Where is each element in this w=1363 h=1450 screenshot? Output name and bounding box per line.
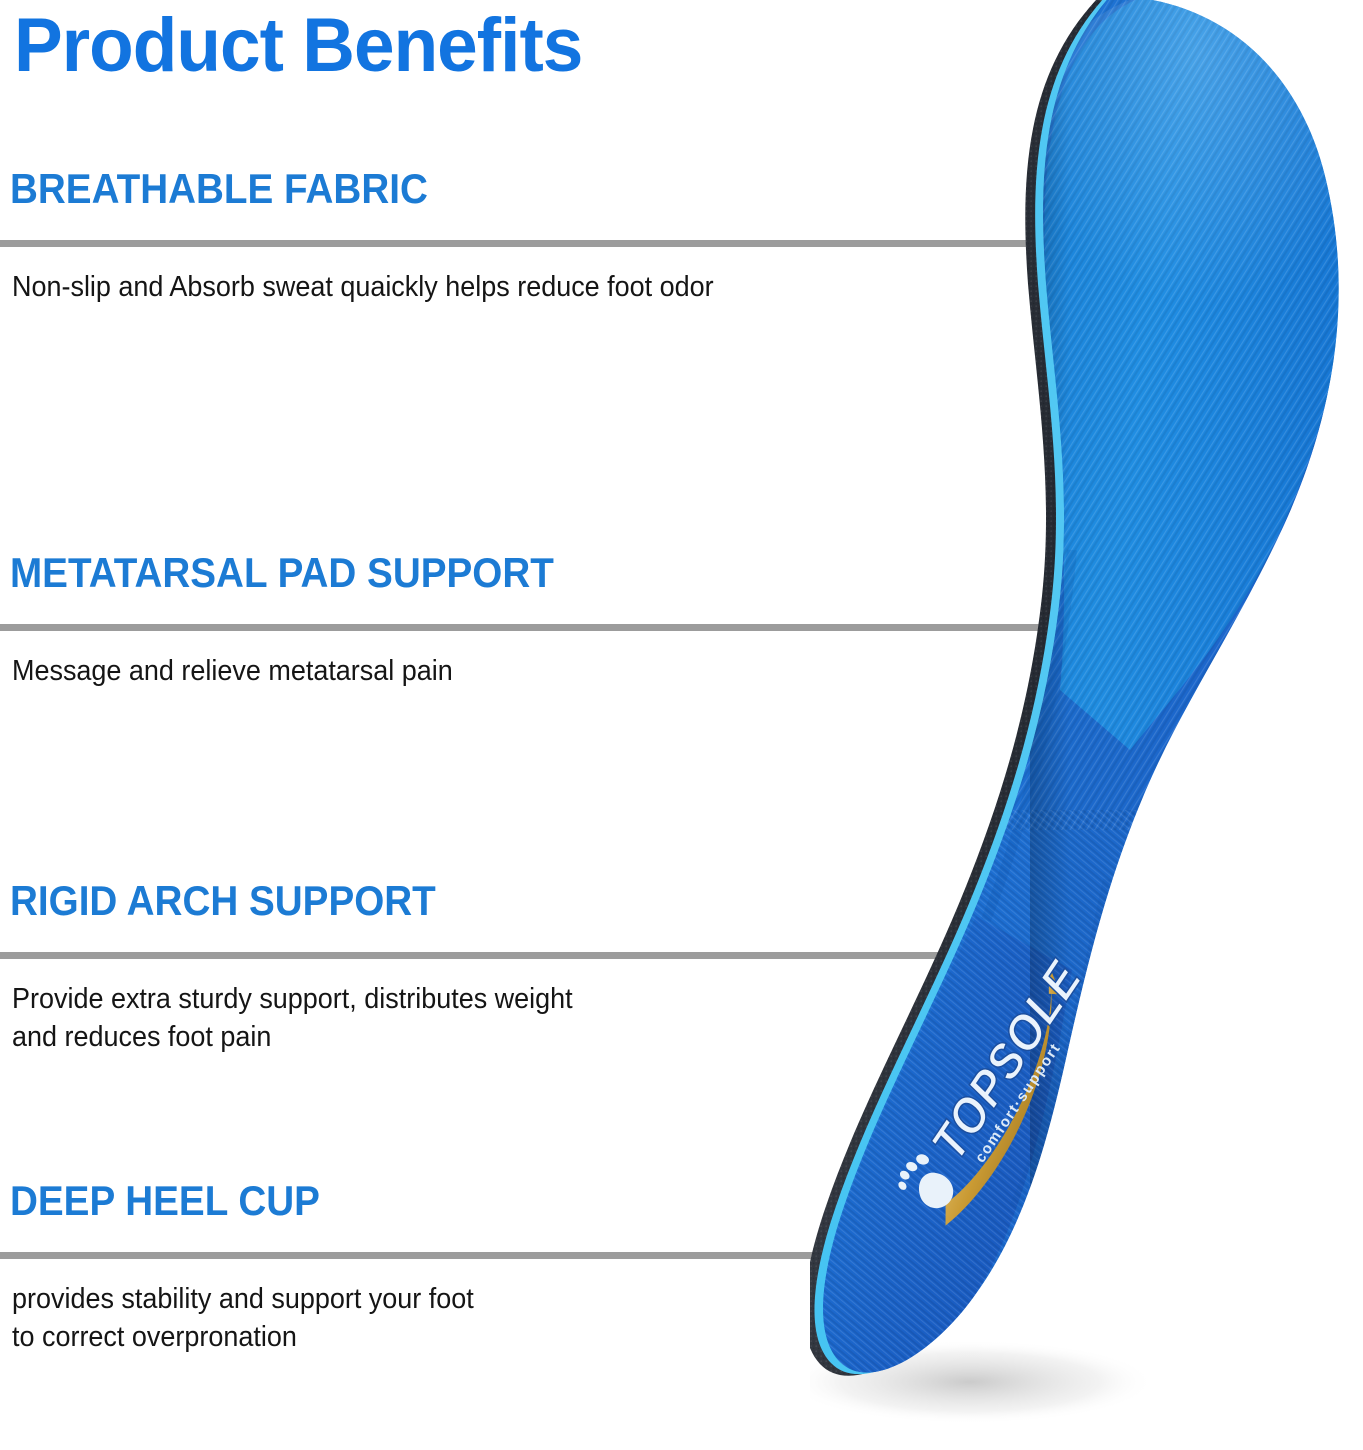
product-insole-image: TOPSOLE comfort·support xyxy=(810,0,1363,1450)
benefit-heading: BREATHABLE FABRIC xyxy=(10,168,428,210)
insole-top-fabric xyxy=(810,0,1363,1450)
benefit-description: Provide extra sturdy support, distribute… xyxy=(12,980,573,1057)
benefit-heading: METATARSAL PAD SUPPORT xyxy=(10,552,554,594)
benefit-heading: DEEP HEEL CUP xyxy=(10,1180,320,1222)
page-title: Product Benefits xyxy=(14,4,582,88)
benefit-description: provides stability and support your foot… xyxy=(12,1280,474,1357)
benefit-description: Non-slip and Absorb sweat quaickly helps… xyxy=(12,268,714,306)
benefit-heading: RIGID ARCH SUPPORT xyxy=(10,880,436,922)
benefit-description: Message and relieve metatarsal pain xyxy=(12,652,453,690)
